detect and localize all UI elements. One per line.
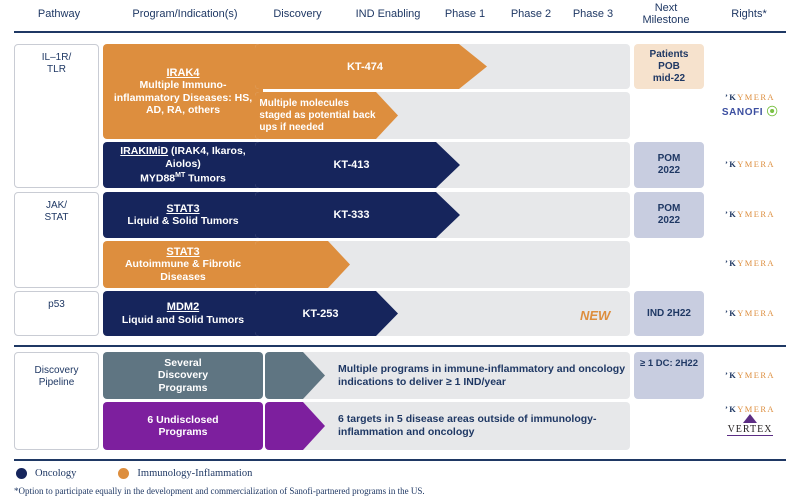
pathway-cell-discovery-pipeline: DiscoveryPipeline	[14, 352, 99, 450]
program-cell-stat3-autoimmune[interactable]: STAT3 Autoimmune & Fibrotic Diseases	[103, 241, 263, 288]
rights-cell-stat3-oncology: ʼKYMERA	[708, 209, 792, 219]
pathway-label: JAK/STAT	[44, 200, 68, 223]
discovery-description-undisclosed: 6 targets in 5 disease areas outside of …	[328, 402, 628, 450]
phase-bar-kt-253[interactable]: KT-253	[255, 291, 398, 336]
program-title: STAT3	[166, 246, 199, 259]
program-title: IRAKIMiD (IRAK4, Ikaros, Aiolos)	[107, 145, 259, 170]
discovery-description-several: Multiple programs in immune-inflammatory…	[328, 352, 628, 399]
pathway-label: DiscoveryPipeline	[35, 365, 79, 388]
pathway-cell-jak-stat: JAK/STAT	[14, 192, 99, 288]
rights-cell-several-discovery: ʼKYMERA	[708, 370, 792, 380]
program-cell-mdm2[interactable]: MDM2 Liquid and Solid Tumors	[103, 291, 263, 336]
milestone-cell-irakimid: POM2022	[634, 142, 704, 188]
phase-bar-kt-413[interactable]: KT-413	[255, 142, 460, 188]
milestone-text: ≥ 1 DC: 2H22	[640, 358, 698, 370]
program-label: SeveralDiscoveryPrograms	[158, 357, 208, 395]
pathway-label: IL–1R/TLR	[42, 52, 71, 75]
milestone-cell-several-discovery: ≥ 1 DC: 2H22	[634, 352, 704, 399]
program-indication: Autoimmune & Fibrotic Diseases	[107, 258, 259, 283]
milestone-text: IND 2H22	[647, 308, 691, 320]
milestone-text: POM2022	[658, 153, 681, 177]
program-title: IRAK4	[166, 67, 199, 80]
rights-cell-stat3-autoimmune: ʼKYMERA	[708, 258, 792, 268]
footnote-text: Option to participate equally in the dev…	[19, 486, 425, 496]
program-cell-irak4[interactable]: IRAK4 Multiple Immuno-inflammatory Disea…	[103, 44, 263, 139]
phase-bar-label: KT-474	[347, 61, 383, 73]
vertex-logo: VERTEX	[708, 424, 792, 436]
legend-label-immunology: Immunology-Inflammation	[137, 468, 252, 479]
program-indication: Liquid and Solid Tumors	[122, 314, 244, 327]
legend-label-oncology: Oncology	[35, 468, 76, 479]
new-badge: NEW	[580, 308, 610, 323]
program-cell-undisclosed-programs[interactable]: 6 UndisclosedPrograms	[103, 402, 263, 450]
kymera-logo: ʼKYMERA	[708, 159, 792, 169]
phase-bar-kt-333[interactable]: KT-333	[255, 192, 460, 238]
rights-cell-irakimid: ʼKYMERA	[708, 159, 792, 169]
program-label: 6 UndisclosedPrograms	[147, 414, 218, 439]
milestone-cell-mdm2: IND 2H22	[634, 291, 704, 336]
phase-bar-label: KT-413	[333, 159, 369, 171]
footer-divider	[14, 459, 786, 461]
rights-cell-irak4: ʼKYMERA SANOFI ⦿	[708, 92, 792, 119]
program-indication: Multiple Immuno-inflammatory Diseases: H…	[107, 79, 259, 117]
milestone-text: PatientsPOBmid-22	[650, 49, 689, 85]
program-cell-irakimid[interactable]: IRAKIMiD (IRAK4, Ikaros, Aiolos) MYD88MT…	[103, 142, 263, 188]
milestone-cell-stat3-oncology: POM2022	[634, 192, 704, 238]
program-indication: MYD88MT Tumors	[140, 170, 226, 185]
rights-cell-mdm2: ʼKYMERA	[708, 308, 792, 318]
program-title: STAT3	[166, 203, 199, 216]
pathway-label: p53	[48, 299, 65, 310]
kymera-logo: ʼKYMERA	[708, 209, 792, 219]
phase-bar-label: KT-333	[333, 209, 369, 221]
pathway-cell-p53: p53	[14, 291, 99, 336]
kymera-logo: ʼKYMERA	[708, 404, 792, 414]
legend-swatch-immunology	[118, 468, 129, 479]
milestone-cell-irak4: PatientsPOBmid-22	[634, 44, 704, 89]
legend: Oncology Immunology-Inflammation	[16, 468, 252, 479]
phase-bar-label: Multiple moleculesstaged as potential ba…	[259, 98, 375, 134]
kymera-logo: ʼKYMERA	[708, 92, 792, 102]
program-cell-stat3-oncology[interactable]: STAT3 Liquid & Solid Tumors	[103, 192, 263, 238]
kymera-logo: ʼKYMERA	[708, 370, 792, 380]
footnote: *Option to participate equally in the de…	[14, 486, 425, 496]
phase-bar-backup-molecules[interactable]: Multiple moleculesstaged as potential ba…	[255, 92, 398, 139]
program-indication: Liquid & Solid Tumors	[127, 215, 238, 228]
phase-bar-label: KT-253	[302, 308, 338, 320]
rights-cell-undisclosed: ʼKYMERA VERTEX	[708, 404, 792, 436]
program-cell-several-discovery-programs[interactable]: SeveralDiscoveryPrograms	[103, 352, 263, 399]
program-title: MDM2	[167, 301, 199, 314]
section-divider-discovery	[14, 345, 786, 347]
legend-swatch-oncology	[16, 468, 27, 479]
kymera-logo: ʼKYMERA	[708, 258, 792, 268]
pipeline-board: IL–1R/TLR JAK/STAT p53 DiscoveryPipeline…	[0, 0, 800, 500]
phase-bar-kt-474[interactable]: KT-474	[255, 44, 487, 89]
pathway-cell-il1r-tlr: IL–1R/TLR	[14, 44, 99, 188]
kymera-logo: ʼKYMERA	[708, 308, 792, 318]
sanofi-logo: SANOFI ⦿	[708, 103, 792, 119]
milestone-text: POM2022	[658, 203, 681, 227]
vertex-triangle-icon	[743, 414, 757, 423]
